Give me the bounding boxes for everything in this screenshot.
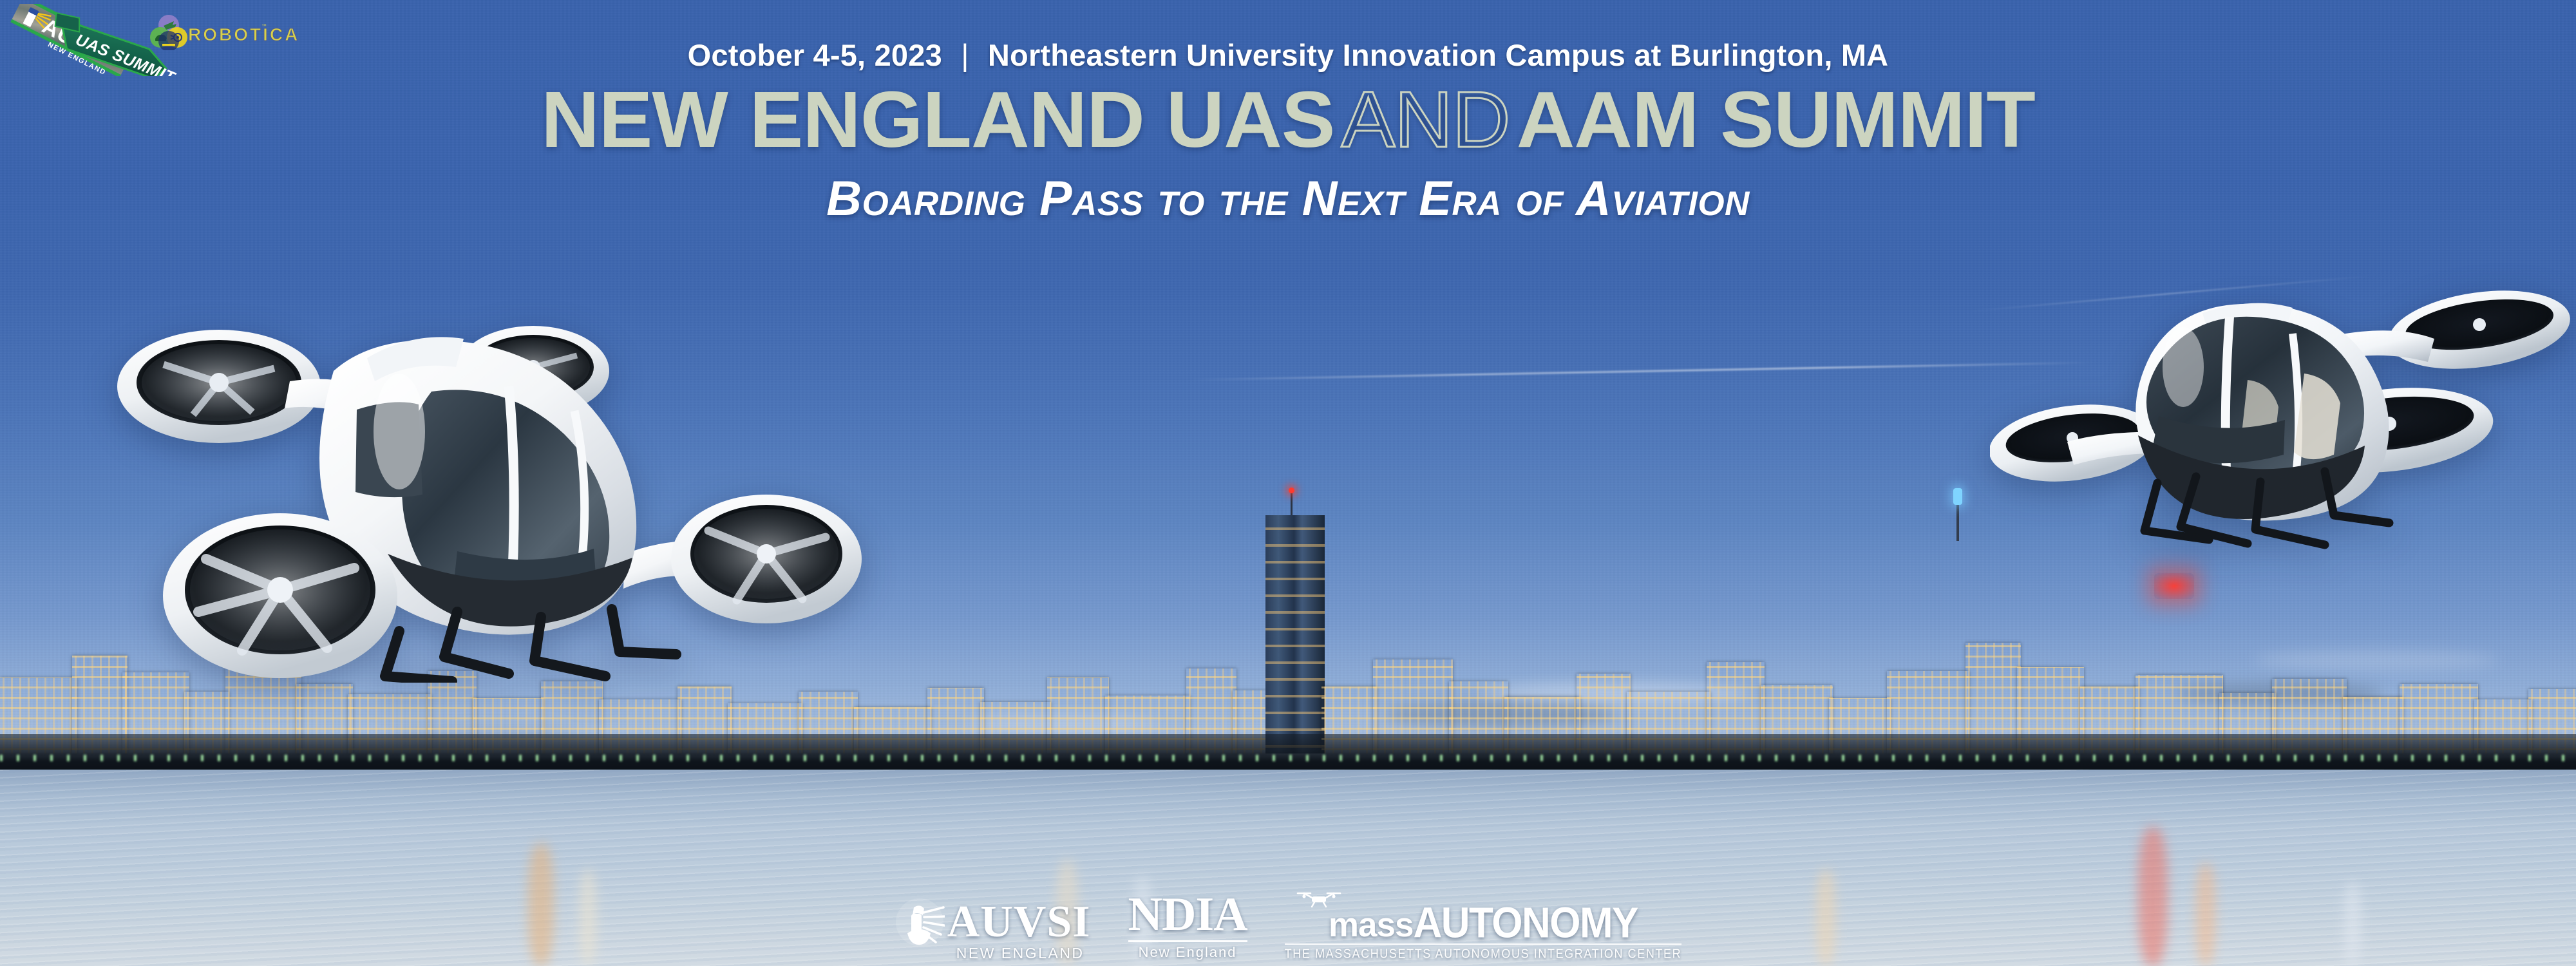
- auvsi-tagline: NEW ENGLAND: [956, 945, 1084, 962]
- mass-divider: [1285, 943, 1682, 945]
- mass-autonomy-tagline: THE MASSACHUSETTS AUTONOMOUS INTEGRATION…: [1285, 947, 1682, 962]
- auvsi-wordmark: AUVSI: [947, 901, 1091, 944]
- tower-antenna: [1291, 491, 1293, 515]
- title-part1: NEW ENGLAND UAS: [541, 76, 1334, 164]
- title-part2: AAM SUMMIT: [1517, 76, 2035, 164]
- mass-prefix: mass: [1329, 910, 1414, 942]
- event-dates-venue: October 4-5, 2023 | Northeastern Univers…: [0, 37, 2576, 73]
- autonomy-suffix: AUTONOMY: [1413, 904, 1638, 943]
- ndia-divider: [1128, 940, 1247, 942]
- street-lights: [0, 755, 2576, 761]
- sponsor-mass-autonomy[interactable]: massAUTONOMY THE MASSACHUSETTS AUTONOMOU…: [1285, 889, 1682, 962]
- event-banner: AUVSI NEW ENGLAND UAS SUMMIT: [0, 0, 2576, 966]
- mass-autonomy-wordmark: massAUTONOMY: [1329, 905, 1638, 942]
- ndia-tagline: New England: [1139, 944, 1237, 961]
- auvsi-beacon-icon: [895, 897, 945, 947]
- event-tagline: Boarding Pass to the Next Era of Aviatio…: [0, 171, 2576, 227]
- eyebrow-separator: |: [951, 38, 979, 72]
- headline-block: October 4-5, 2023 | Northeastern Univers…: [0, 0, 2576, 227]
- spire-light: [1953, 488, 1962, 505]
- event-dates: October 4-5, 2023: [688, 38, 942, 72]
- page-title: NEW ENGLAND UASANDAAM SUMMIT: [0, 80, 2576, 160]
- title-conjunction: AND: [1334, 76, 1516, 164]
- event-venue: Northeastern University Innovation Campu…: [988, 38, 1888, 72]
- sponsor-auvsi-new-england[interactable]: AUVSI NEW ENGLAND: [895, 897, 1091, 962]
- shoreline: [0, 734, 2576, 773]
- hancock-tower: [1265, 515, 1325, 753]
- evtol-aircraft-left: [97, 296, 889, 683]
- evtol-aircraft-right: [1990, 283, 2576, 580]
- ndia-wordmark: NDIA: [1128, 893, 1247, 938]
- beacon-light: [1289, 488, 1294, 493]
- sponsor-ndia-new-england[interactable]: NDIA New England: [1128, 893, 1247, 962]
- sponsor-logo-row: AUVSI NEW ENGLAND NDIA New England: [0, 889, 2576, 962]
